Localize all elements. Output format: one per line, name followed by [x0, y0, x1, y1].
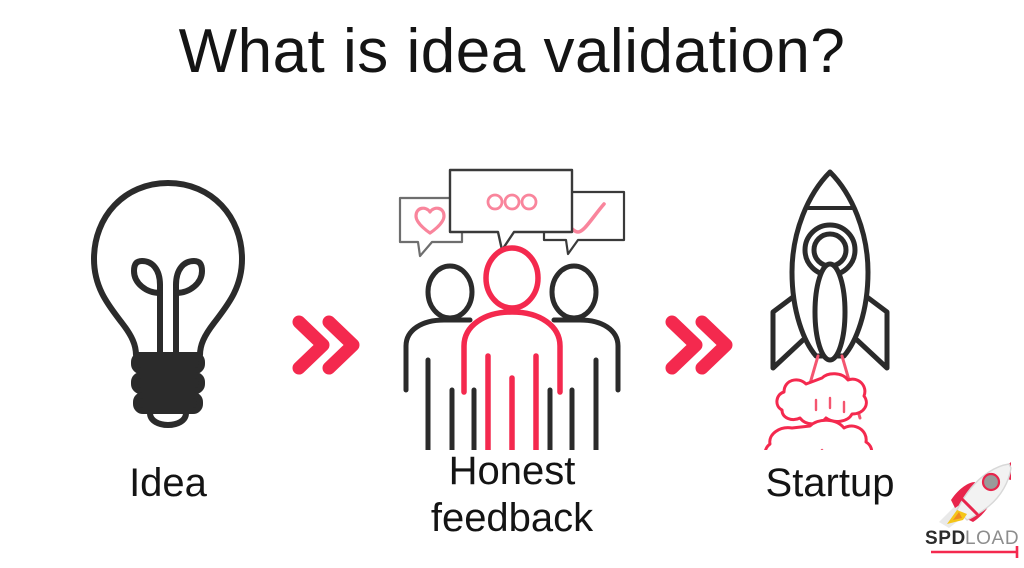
spdload-logo[interactable]: SPD LOAD: [925, 458, 1024, 562]
logo-rocket-icon: [933, 458, 1015, 528]
rocket-icon: [740, 160, 920, 450]
rocket-art: [700, 160, 960, 450]
people-feedback-art: [382, 160, 642, 450]
infographic-canvas: What is idea validation?: [0, 0, 1024, 568]
logo-word-primary: SPD: [925, 528, 966, 549]
people-feedback-icon: [392, 160, 632, 450]
logo-wordmark: SPD LOAD: [925, 526, 1024, 560]
stage-label-idea: Idea: [38, 460, 298, 507]
stage-label-startup: Startup: [700, 460, 960, 507]
page-title: What is idea validation?: [0, 16, 1024, 87]
stage-startup: Startup: [700, 160, 960, 460]
logo-word-secondary: LOAD: [965, 528, 1019, 549]
person-center: [464, 248, 560, 450]
lightbulb-art: [38, 160, 298, 450]
double-chevron-right-icon: [279, 300, 369, 390]
stage-feedback: Honest feedback: [382, 160, 642, 460]
lightbulb-icon: [78, 165, 258, 445]
arrow-idea-to-feedback: [279, 300, 369, 390]
stage-label-feedback: Honest feedback: [382, 448, 642, 542]
stage-idea: Idea: [38, 160, 298, 460]
